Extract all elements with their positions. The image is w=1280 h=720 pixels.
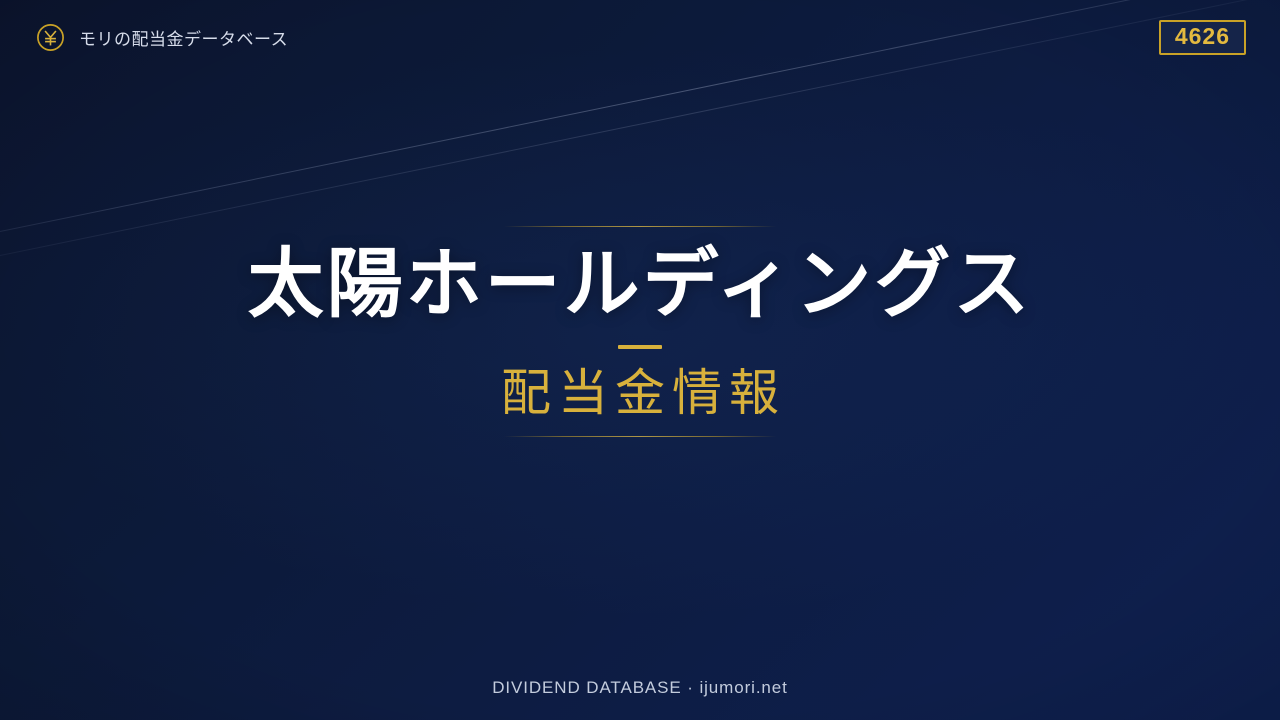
ticker-badge: 4626 <box>1159 20 1246 55</box>
gold-divider-dash <box>618 345 662 349</box>
hero-rule-bottom <box>504 436 776 437</box>
hero-rule-top <box>504 226 776 227</box>
footer-caption: DIVIDEND DATABASE · ijumori.net <box>0 678 1280 698</box>
yen-circle-icon <box>36 23 65 52</box>
brand[interactable]: モリの配当金データベース <box>36 23 288 52</box>
hero-block: 太陽ホールディングス 配当金情報 <box>0 226 1280 437</box>
title-slide: モリの配当金データベース 4626 太陽ホールディングス 配当金情報 DIVID… <box>0 0 1280 720</box>
site-name: モリの配当金データベース <box>79 25 288 50</box>
page-header: モリの配当金データベース 4626 <box>0 0 1280 74</box>
hero-subtitle: 配当金情報 <box>494 365 786 423</box>
company-name: 太陽ホールディングス <box>248 245 1033 325</box>
